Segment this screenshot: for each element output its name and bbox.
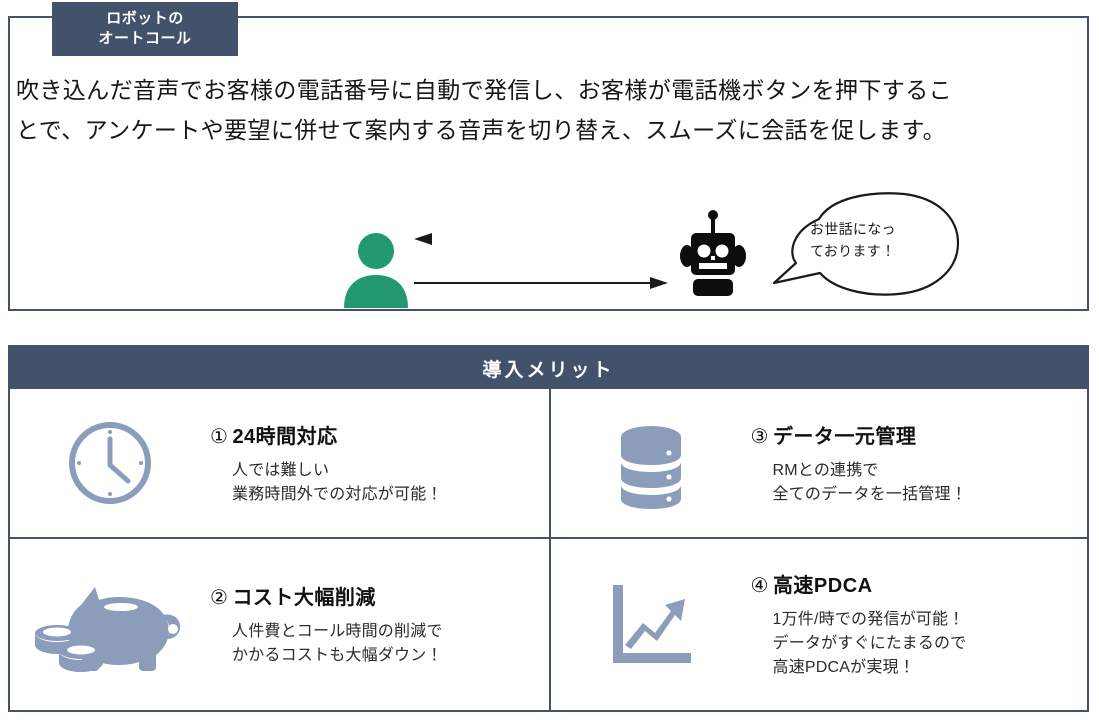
benefit-title-3: ③データ一元管理 — [751, 420, 1074, 449]
bubble-line-2: ております！ — [810, 241, 940, 263]
benefit-desc-2-line-1: 人件費とコール時間の削減で — [232, 620, 535, 644]
benefit-desc-2-line-2: かかるコストも大幅ダウン！ — [232, 644, 535, 668]
database-icon — [551, 415, 751, 511]
benefit-text-1: ①24時間対応 人では難しい 業務時間外での対応が可能！ — [210, 420, 549, 507]
benefit-label-1: 24時間対応 — [232, 426, 337, 448]
benefit-number-4: ④ — [751, 575, 769, 597]
arrow-person-to-robot — [414, 277, 668, 289]
benefit-label-4: 高速PDCA — [773, 575, 873, 597]
bubble-line-1: お世話になっ — [810, 219, 940, 241]
benefit-text-4: ④高速PDCA 1万件/時での発信が可能！ データがすぐにたまるので 高速PDC… — [751, 569, 1088, 680]
overview-description: 吹き込んだ音声でお客様の電話番号に自動で発信し、お客様が電話機ボタンを押下するこ… — [16, 70, 1074, 151]
benefit-desc-1-line-1: 人では難しい — [232, 459, 535, 483]
benefit-number-3: ③ — [751, 426, 769, 448]
two-way-arrows — [410, 230, 672, 313]
benefit-number-1: ① — [210, 426, 228, 448]
benefit-title-1: ①24時間対応 — [210, 420, 535, 449]
arrow-robot-to-person — [414, 233, 668, 245]
benefit-desc-3: RMとの連携で 全てのデータを一括管理！ — [751, 459, 1074, 507]
benefit-card-1: ①24時間対応 人では難しい 業務時間外での対応が可能！ — [10, 389, 549, 537]
badge-line-2: オートコール — [98, 29, 191, 49]
customer-person-icon — [337, 230, 415, 313]
autocall-overview-panel: ロボットの オートコール 吹き込んだ音声でお客様の電話番号に自動で発信し、お客様… — [8, 16, 1089, 311]
speech-bubble-text: お世話になっ ております！ — [810, 219, 940, 262]
benefit-desc-3-line-1: RMとの連携で — [773, 459, 1074, 483]
benefit-desc-1: 人では難しい 業務時間外での対応が可能！ — [210, 459, 535, 507]
benefit-title-2: ②コスト大幅削減 — [210, 581, 535, 610]
description-line-2: とで、アンケートや要望に併せて案内する音声を切り替え、スムーズに会話を促します。 — [16, 110, 1074, 150]
benefit-card-3: ③データ一元管理 RMとの連携で 全てのデータを一括管理！ — [549, 389, 1088, 537]
robot-icon — [677, 209, 749, 304]
benefit-title-4: ④高速PDCA — [751, 569, 1074, 598]
benefits-header: 導入メリット — [10, 347, 1087, 389]
benefit-desc-4: 1万件/時での発信が可能！ データがすぐにたまるので 高速PDCAが実現！ — [751, 608, 1074, 680]
benefit-desc-4-line-3: 高速PDCAが実現！ — [773, 656, 1074, 680]
growth-chart-icon — [551, 579, 751, 671]
benefit-card-2: ②コスト大幅削減 人件費とコール時間の削減で かかるコストも大幅ダウン！ — [10, 537, 549, 710]
benefit-desc-1-line-2: 業務時間外での対応が可能！ — [232, 483, 535, 507]
piggy-bank-icon — [10, 575, 210, 675]
benefit-desc-4-line-2: データがすぐにたまるので — [773, 632, 1074, 656]
call-flow-diagram: お世話になっ ております！ — [10, 186, 1087, 310]
description-line-1: 吹き込んだ音声でお客様の電話番号に自動で発信し、お客様が電話機ボタンを押下するこ — [16, 70, 1074, 110]
benefits-grid: ①24時間対応 人では難しい 業務時間外での対応が可能！ — [10, 389, 1087, 710]
benefit-label-3: データ一元管理 — [773, 426, 917, 448]
benefit-text-2: ②コスト大幅削減 人件費とコール時間の削減で かかるコストも大幅ダウン！ — [210, 581, 549, 668]
badge-line-1: ロボットの — [106, 9, 184, 29]
benefit-desc-4-line-1: 1万件/時での発信が可能！ — [773, 608, 1074, 632]
section-badge: ロボットの オートコール — [52, 2, 238, 56]
benefit-number-2: ② — [210, 587, 228, 609]
benefit-label-2: コスト大幅削減 — [232, 587, 376, 609]
clock-icon — [10, 415, 210, 511]
benefit-desc-3-line-2: 全てのデータを一括管理！ — [773, 483, 1074, 507]
benefit-desc-2: 人件費とコール時間の削減で かかるコストも大幅ダウン！ — [210, 620, 535, 668]
benefits-panel: 導入メリット ①24時間対応 人では難しい 業 — [8, 345, 1089, 712]
benefit-card-4: ④高速PDCA 1万件/時での発信が可能！ データがすぐにたまるので 高速PDC… — [549, 537, 1088, 710]
benefit-text-3: ③データ一元管理 RMとの連携で 全てのデータを一括管理！ — [751, 420, 1088, 507]
